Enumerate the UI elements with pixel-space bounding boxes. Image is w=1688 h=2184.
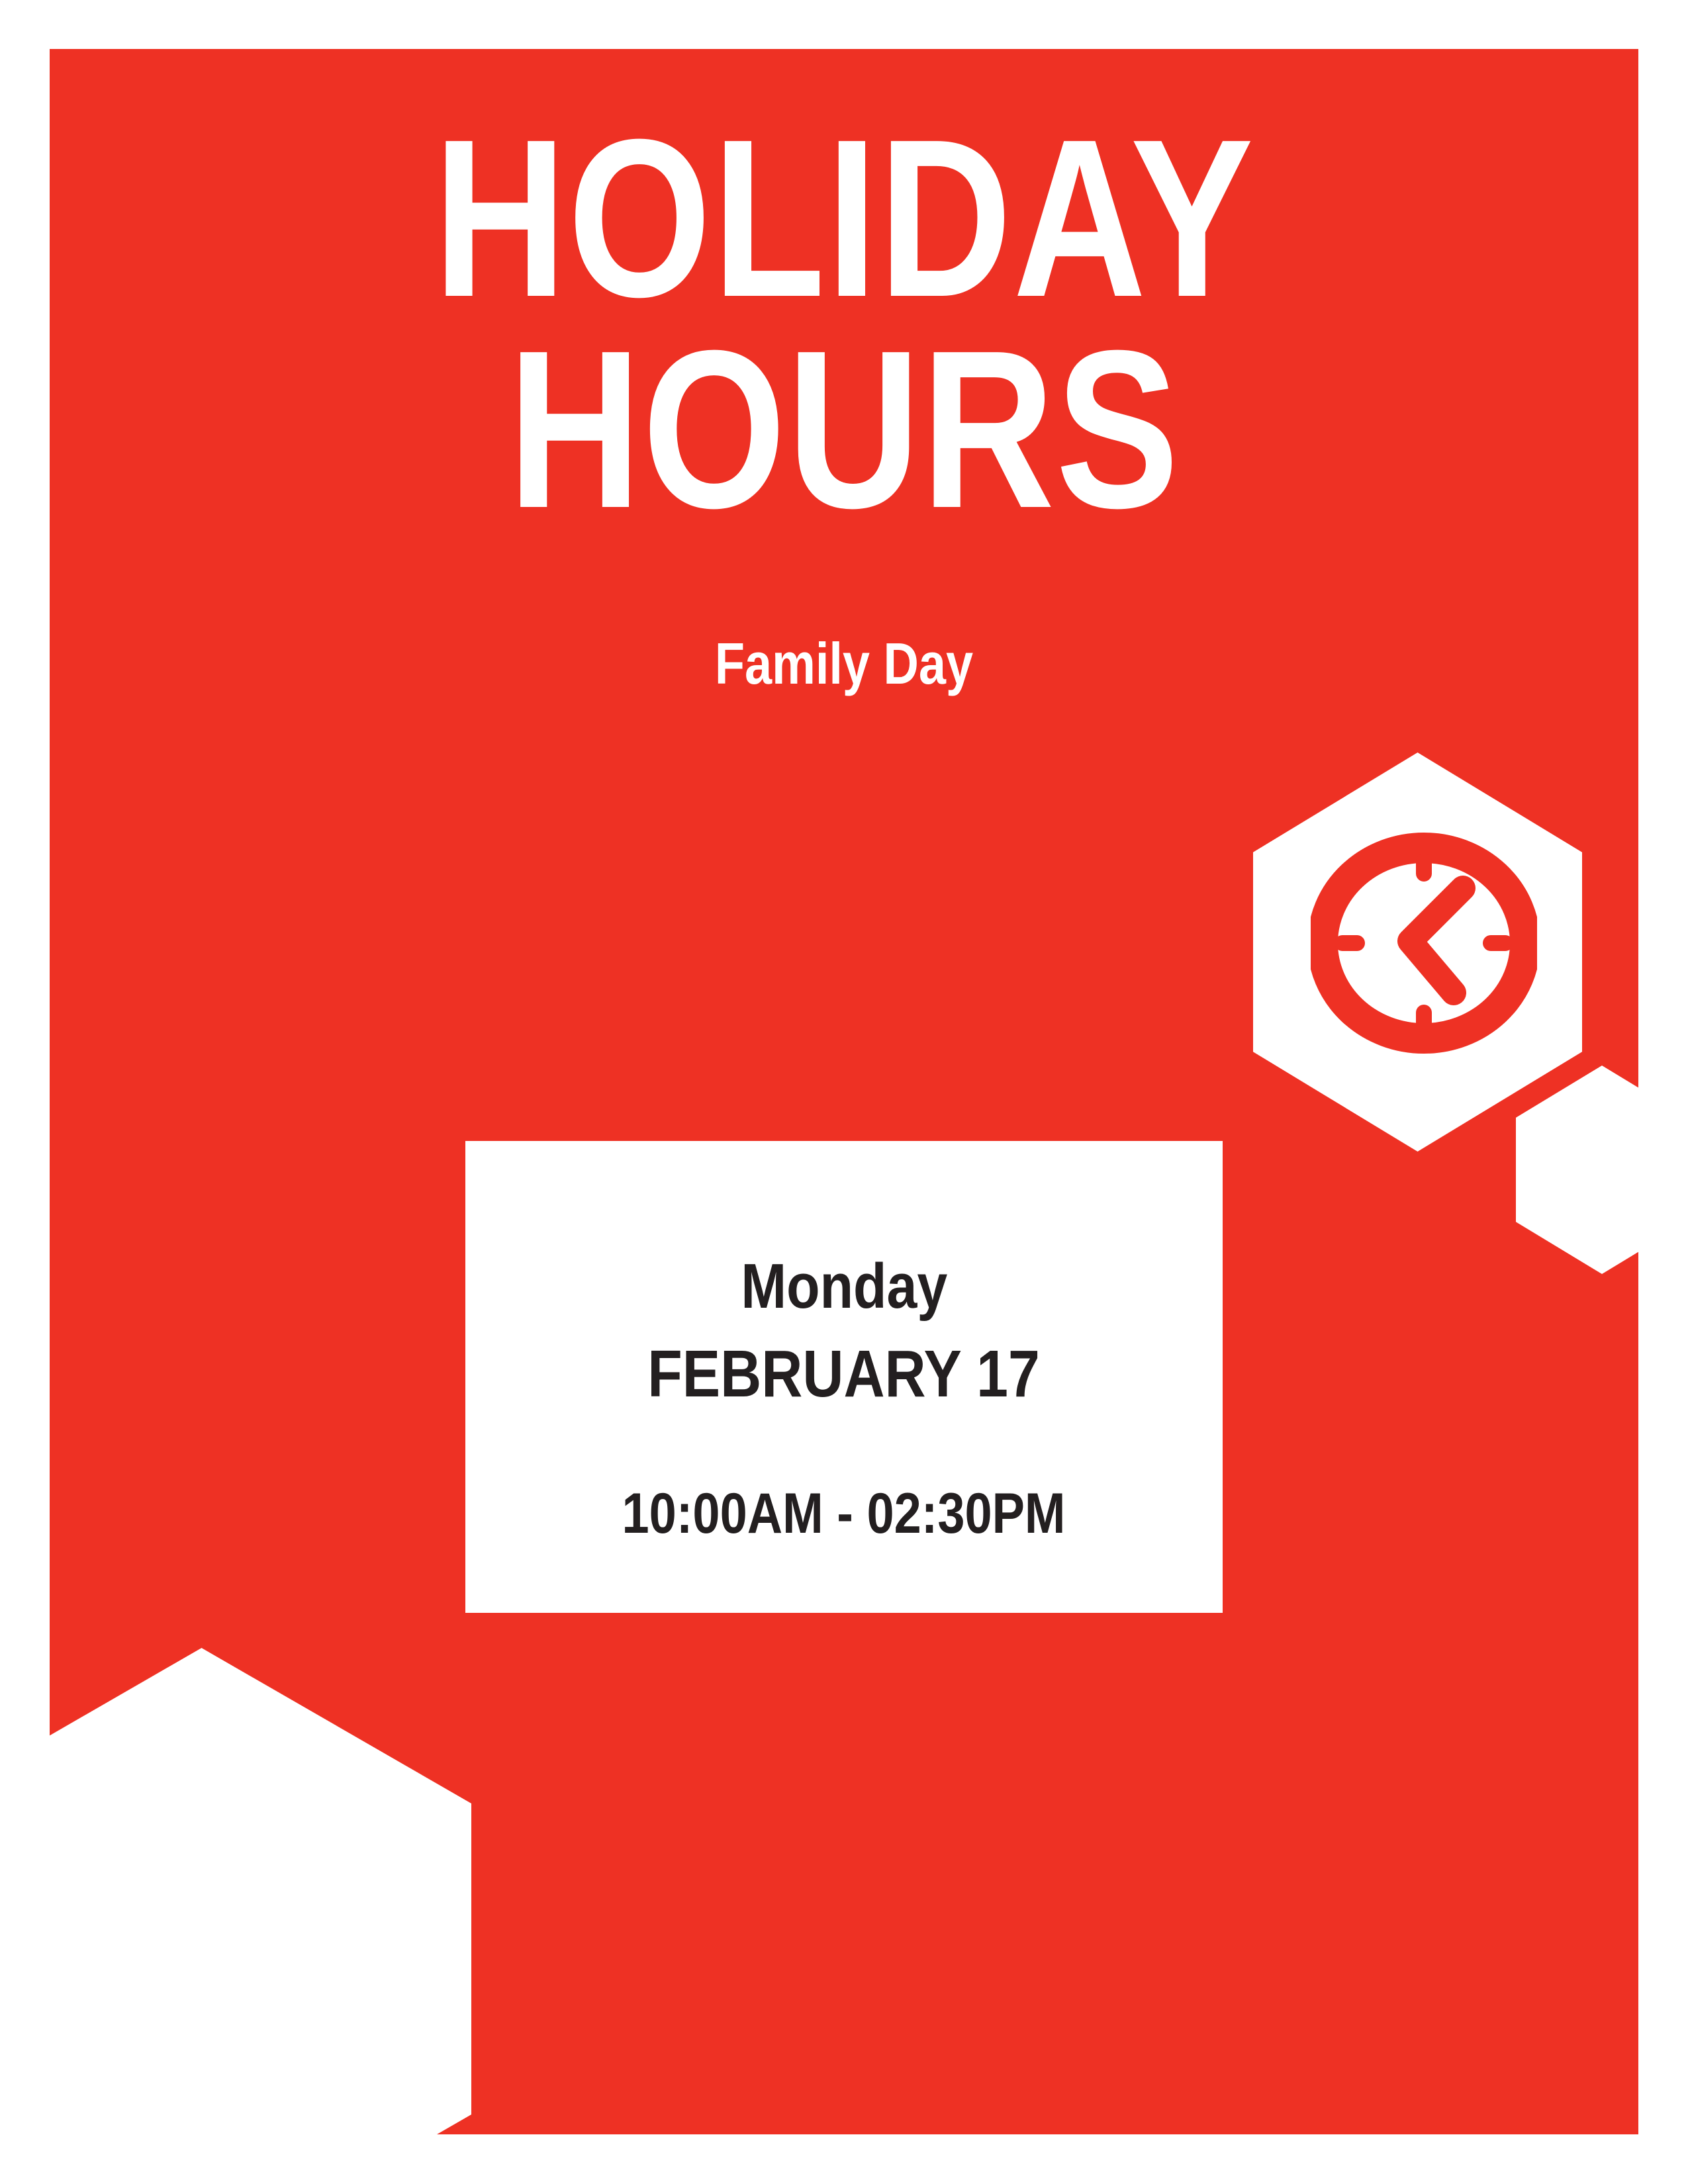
title-line-hours: HOURS xyxy=(193,326,1495,533)
poster-canvas: HOLIDAY HOURS Family Day Monday FEBRUARY… xyxy=(0,0,1688,2184)
poster-subtitle: Family Day xyxy=(177,630,1511,698)
small-hexagon-accent xyxy=(1516,1066,1638,1274)
clock-icon xyxy=(1311,830,1537,1056)
corner-hexagon-accent xyxy=(50,1648,471,2134)
card-date: FEBRUARY 17 xyxy=(648,1341,1041,1407)
card-weekday: Monday xyxy=(741,1255,947,1318)
title-line-holiday: HOLIDAY xyxy=(193,115,1495,322)
card-time-range: 10:00AM - 02:30PM xyxy=(622,1485,1066,1542)
page-title: HOLIDAY HOURS xyxy=(50,115,1638,533)
hours-info-card: Monday FEBRUARY 17 10:00AM - 02:30PM xyxy=(465,1141,1223,1613)
poster-background-panel: HOLIDAY HOURS Family Day Monday FEBRUARY… xyxy=(50,49,1638,2134)
